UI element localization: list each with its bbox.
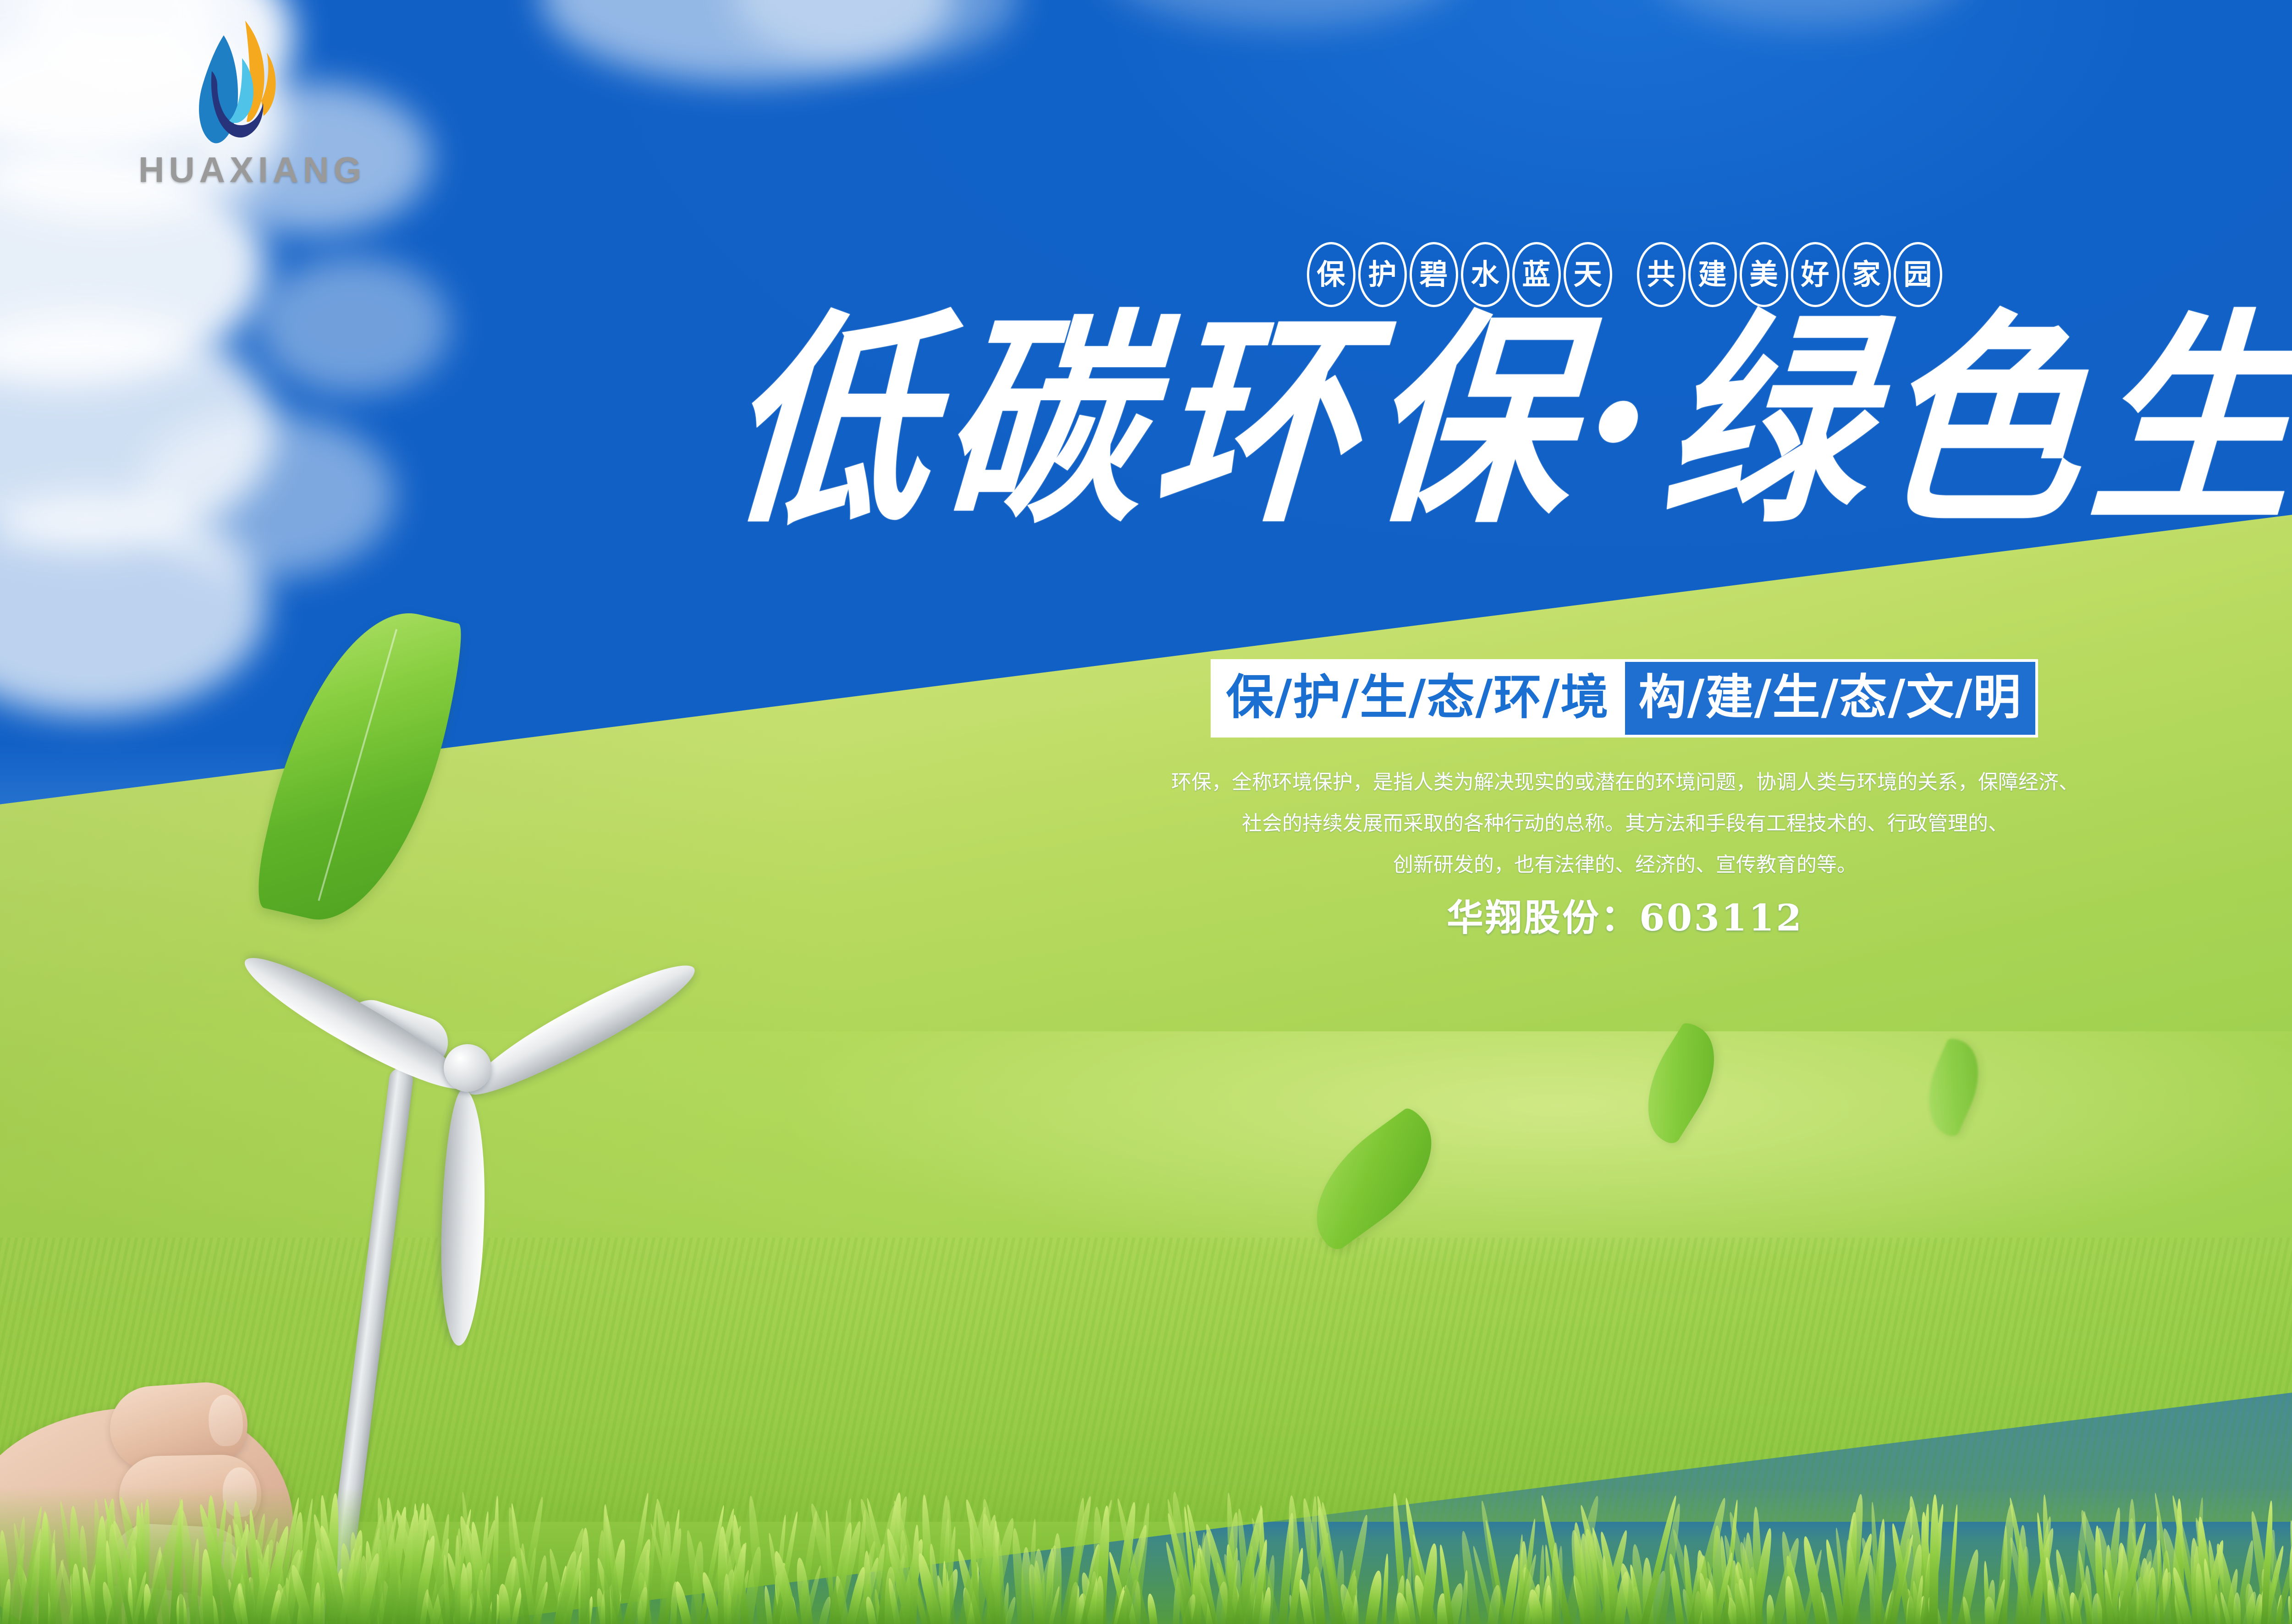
grass-blade bbox=[1146, 1593, 1159, 1624]
body-line: 社会的持续发展而采取的各种行动的总称。其方法和手段有工程技术的、行政管理的、 bbox=[1082, 803, 2168, 844]
poster-canvas: HUAXIANG 保 护 碧 水 蓝 天 共 建 美 好 家 园 低碳环保·绿色… bbox=[0, 0, 2292, 1624]
grass-blade bbox=[1946, 1504, 1959, 1624]
pinwheel-blade bbox=[235, 942, 478, 1107]
pinwheel-blade bbox=[457, 950, 704, 1107]
page-title: 低碳环保·绿色生活 bbox=[0, 303, 2292, 539]
body-line: 创新研发的，也有法律的、经济的、宣传教育的等。 bbox=[1082, 844, 2168, 886]
wind-turbine-pinwheel bbox=[193, 816, 743, 1320]
grass-blade bbox=[1364, 1570, 1384, 1624]
body-paragraph: 环保，全称环境保护，是指人类为解决现实的或潜在的环境问题，协调人类与环境的关系，… bbox=[1082, 762, 2168, 886]
grass-blade bbox=[1381, 1553, 1389, 1624]
pinwheel-hub bbox=[444, 1044, 491, 1092]
subtitle-box-right: 构/建/生/态/文/明 bbox=[1625, 659, 2039, 738]
huaxiang-flame-leaf-logo bbox=[170, 16, 321, 154]
brand-wordmark: HUAXIANG bbox=[124, 149, 380, 191]
body-line: 环保，全称环境保护，是指人类为解决现实的或潜在的环境问题，协调人类与环境的关系，… bbox=[1082, 762, 2168, 803]
foreground-grass bbox=[0, 1486, 2292, 1624]
grass-blade bbox=[1929, 1494, 1939, 1624]
subtitle-box-left: 保/护/生/态/环/境 bbox=[1211, 659, 1625, 738]
stock-code-line: 华翔股份：603112 bbox=[1082, 888, 2168, 941]
brand-logo: HUAXIANG bbox=[124, 16, 380, 199]
pinwheel-blade bbox=[437, 1088, 488, 1346]
